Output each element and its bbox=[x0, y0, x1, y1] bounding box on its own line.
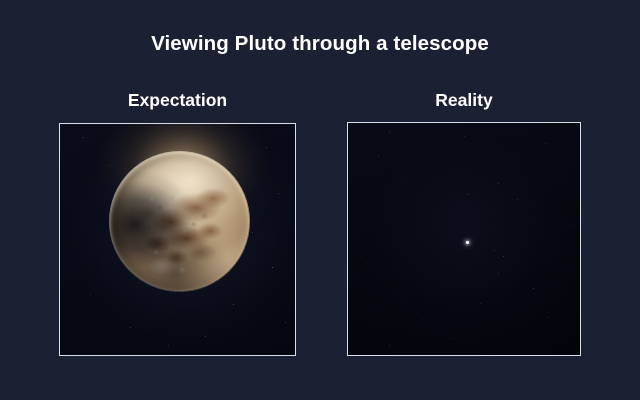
image-frame-reality bbox=[347, 122, 581, 356]
bright-star bbox=[466, 241, 468, 243]
faint-star bbox=[130, 327, 131, 328]
faint-star bbox=[464, 136, 465, 137]
faint-star bbox=[401, 178, 402, 179]
faint-star bbox=[389, 345, 390, 346]
faint-star bbox=[570, 225, 571, 226]
panel-caption-reality: Reality bbox=[347, 88, 581, 112]
reality-sky bbox=[348, 123, 580, 355]
faint-star bbox=[285, 322, 286, 323]
faint-star bbox=[233, 304, 234, 305]
faint-star bbox=[90, 294, 91, 295]
faint-star bbox=[366, 262, 367, 263]
page-title: Viewing Pluto through a telescope bbox=[0, 31, 640, 57]
faint-star bbox=[494, 250, 495, 251]
image-frame-expectation bbox=[59, 123, 296, 356]
faint-star bbox=[517, 199, 518, 200]
faint-star bbox=[389, 132, 390, 133]
expectation-sky bbox=[60, 124, 295, 355]
pluto-planet bbox=[110, 152, 249, 291]
faint-star bbox=[498, 183, 499, 184]
meme-image: Viewing Pluto through a telescope Expect… bbox=[0, 0, 640, 400]
faint-star bbox=[450, 338, 451, 339]
panel-caption-expectation: Expectation bbox=[59, 88, 296, 112]
pluto-limb-highlight bbox=[109, 151, 250, 292]
faint-star bbox=[378, 155, 379, 156]
faint-star bbox=[168, 345, 169, 346]
faint-star bbox=[533, 288, 534, 289]
faint-star bbox=[417, 313, 418, 314]
faint-star bbox=[480, 303, 481, 304]
faint-star bbox=[503, 256, 504, 257]
faint-star bbox=[498, 273, 499, 274]
faint-star bbox=[547, 317, 548, 318]
faint-star bbox=[468, 194, 469, 195]
faint-star bbox=[205, 336, 206, 337]
faint-star bbox=[266, 147, 267, 148]
faint-star bbox=[272, 267, 273, 268]
faint-star bbox=[545, 143, 546, 144]
faint-star bbox=[83, 137, 84, 138]
